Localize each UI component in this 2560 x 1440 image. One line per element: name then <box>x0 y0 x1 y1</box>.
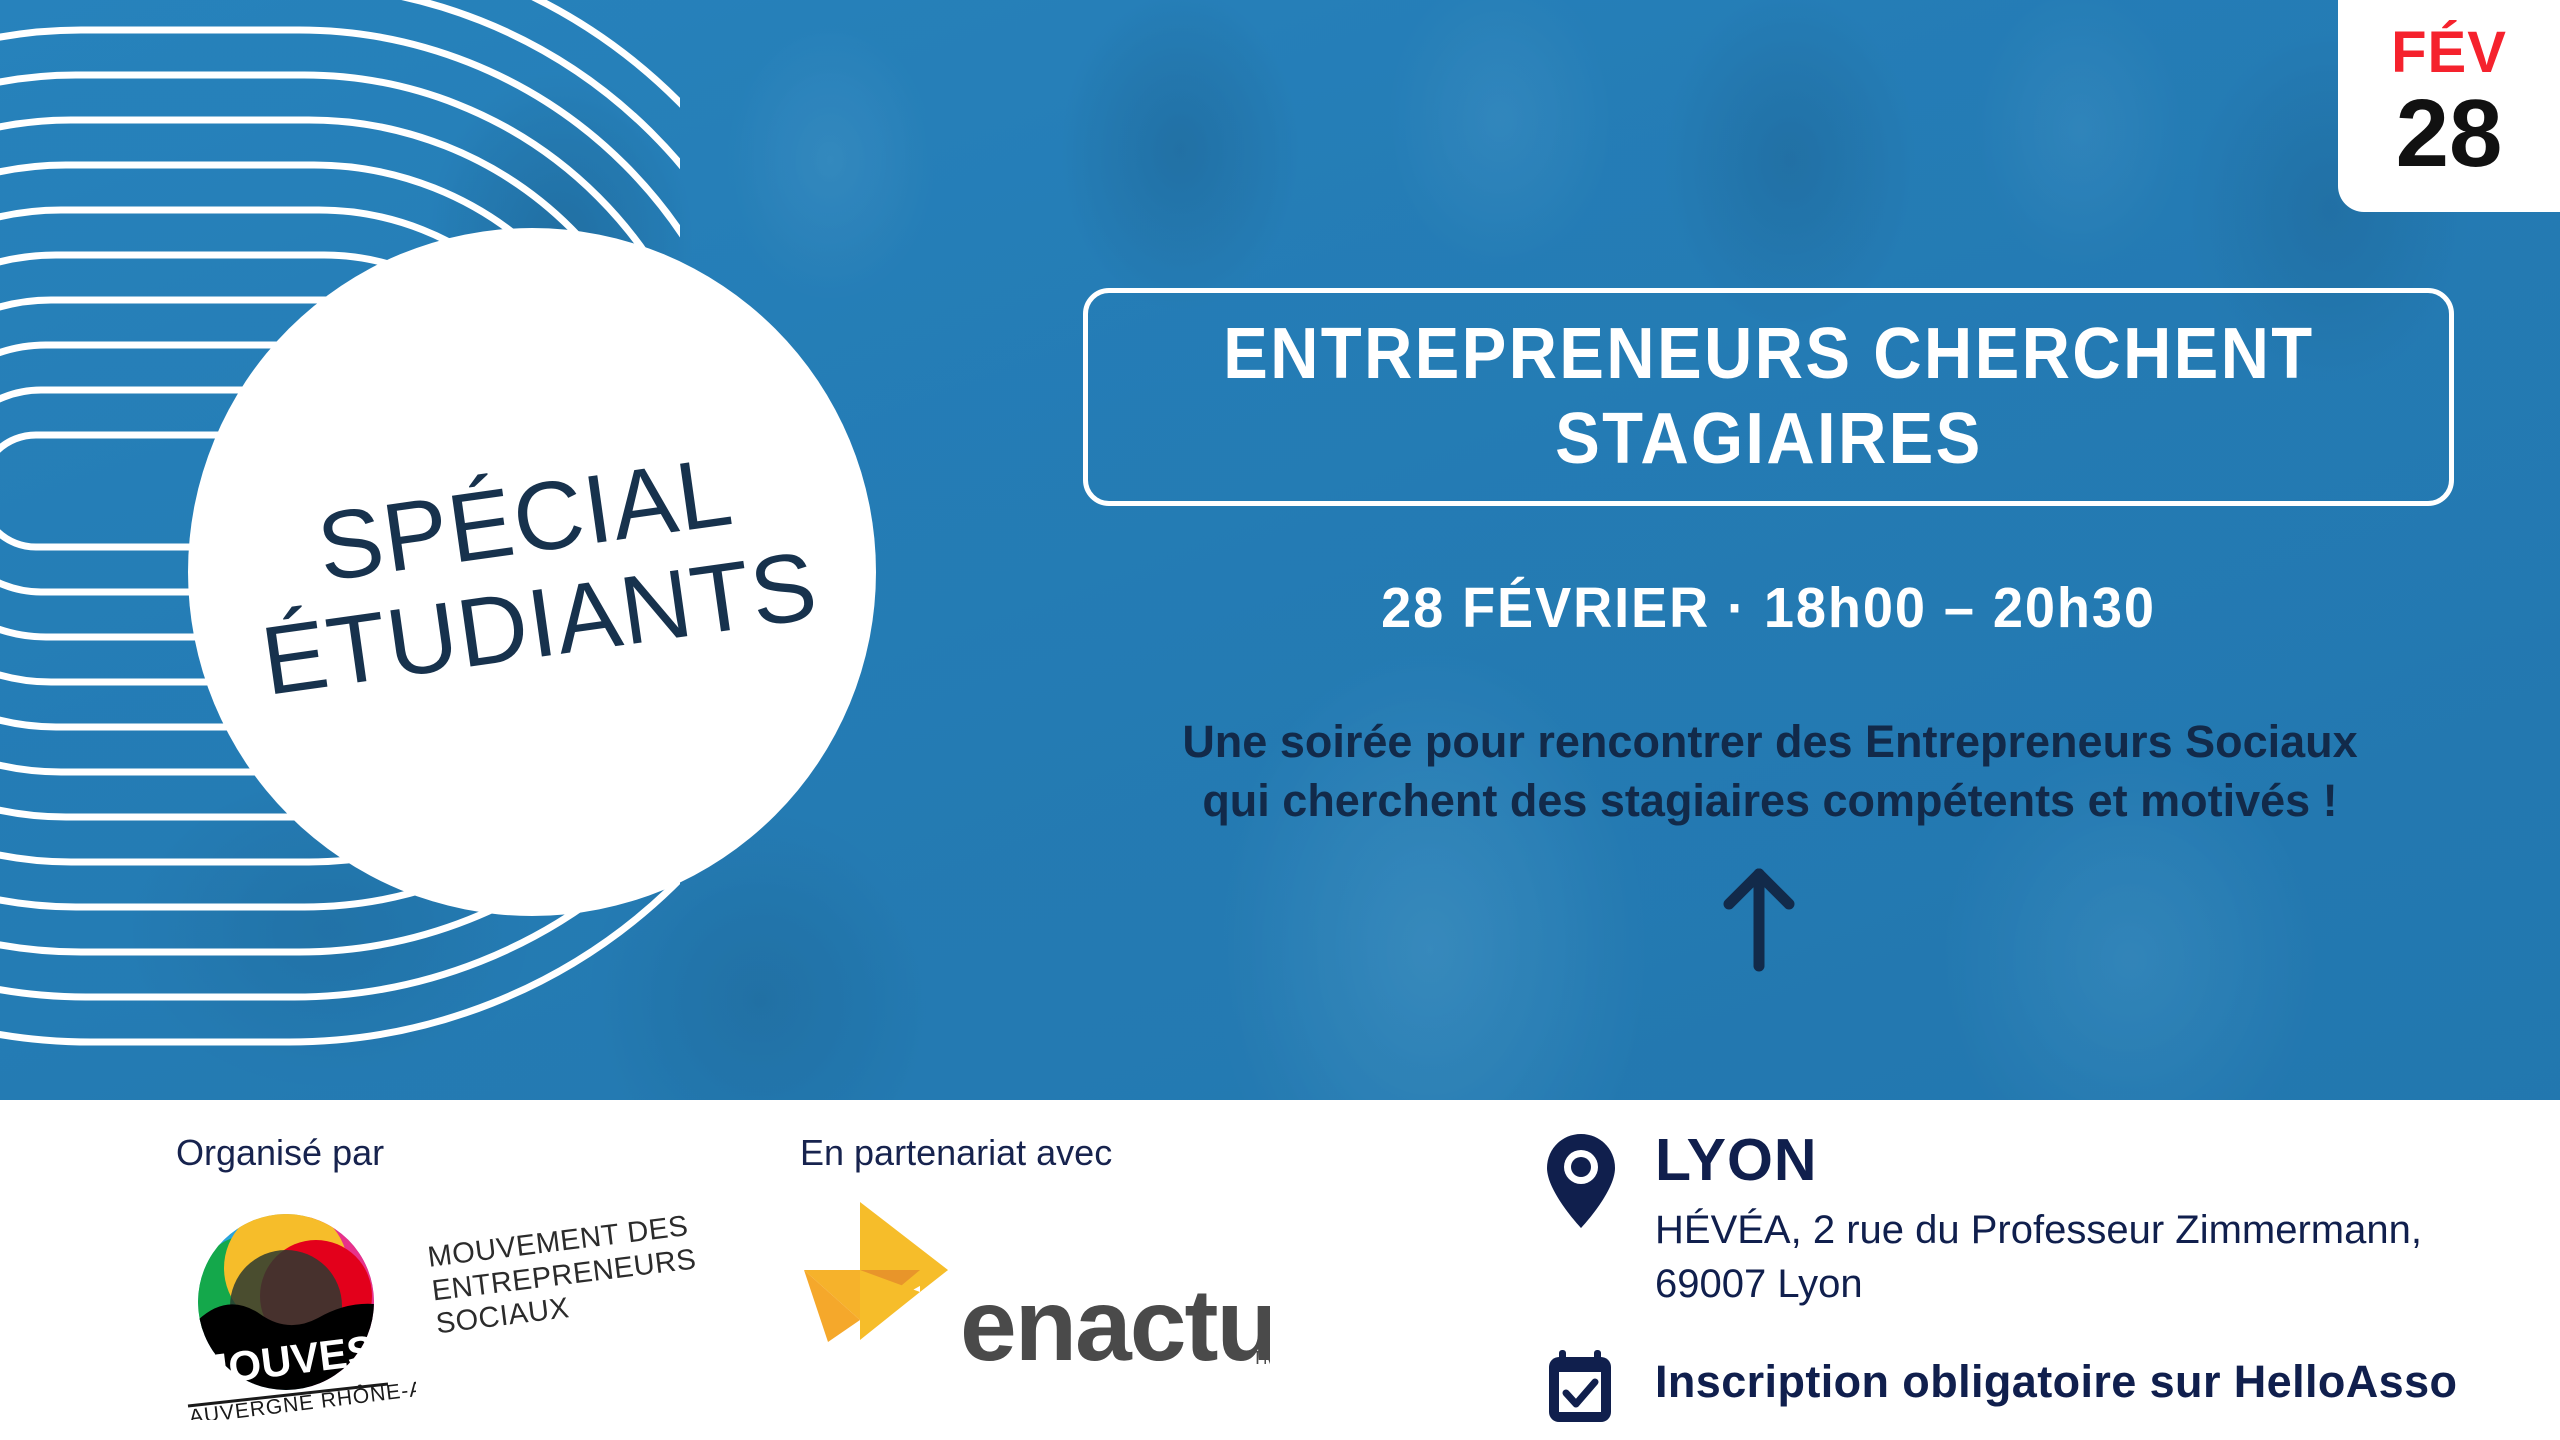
mouves-logo-mark: MOUVES AUVERGNE RHÔNE-ALPES <box>176 1210 416 1420</box>
event-description-line-1: Une soirée pour rencontrer des Entrepren… <box>1000 712 2540 771</box>
event-city: LYON <box>1655 1126 1817 1194</box>
event-title-line-2: STAGIAIRES <box>1555 397 1983 482</box>
event-address: HÉVÉA, 2 rue du Professeur Zimmermann, 6… <box>1655 1204 2525 1311</box>
calendar-check-icon <box>1547 1348 1613 1424</box>
event-description-line-2: qui cherchent des stagiaires compétents … <box>1000 771 2540 830</box>
svg-text:enactus: enactus <box>960 1268 1270 1382</box>
event-poster: SPÉCIAL ÉTUDIANTS FÉV 28 ENTREPRENEURS C… <box>0 0 2560 1440</box>
special-students-badge: SPÉCIAL ÉTUDIANTS <box>188 228 876 916</box>
mouves-logo: MOUVES AUVERGNE RHÔNE-ALPES MOUVEMENT DE… <box>176 1210 736 1420</box>
mouves-logo-wordmark: MOUVEMENT DES ENTREPRENEURS SOCIAUX <box>426 1205 736 1342</box>
date-badge-day: 28 <box>2396 86 2503 182</box>
svg-text:TM: TM <box>1252 1348 1270 1368</box>
hero-section: SPÉCIAL ÉTUDIANTS FÉV 28 ENTREPRENEURS C… <box>0 0 2560 1100</box>
organiser-heading: Organisé par <box>176 1132 736 1174</box>
event-datetime: 28 FÉVRIER · 18h00 – 20h30 <box>1117 575 2419 641</box>
event-description: Une soirée pour rencontrer des Entrepren… <box>1000 712 2540 831</box>
date-badge: FÉV 28 <box>2338 0 2560 212</box>
badge-text: SPÉCIAL ÉTUDIANTS <box>241 432 823 712</box>
registration-note: Inscription obligatoire sur HelloAsso <box>1655 1356 2457 1408</box>
date-badge-month: FÉV <box>2391 24 2507 82</box>
event-title-box: ENTREPRENEURS CHERCHENT STAGIAIRES <box>1083 288 2454 506</box>
partner-heading: En partenariat avec <box>800 1132 1270 1174</box>
arrow-up-icon <box>1716 862 1802 972</box>
organiser-column: Organisé par <box>176 1132 736 1420</box>
map-pin-icon <box>1545 1132 1617 1232</box>
footer-section: Organisé par <box>0 1100 2560 1440</box>
event-address-line-2: 69007 Lyon <box>1655 1258 2525 1312</box>
event-title-line-1: ENTREPRENEURS CHERCHENT <box>1223 312 2314 397</box>
partner-column: En partenariat avec enactus TM <box>800 1132 1270 1392</box>
event-address-line-1: HÉVÉA, 2 rue du Professeur Zimmermann, <box>1655 1204 2525 1258</box>
enactus-logo: enactus TM <box>800 1192 1270 1392</box>
